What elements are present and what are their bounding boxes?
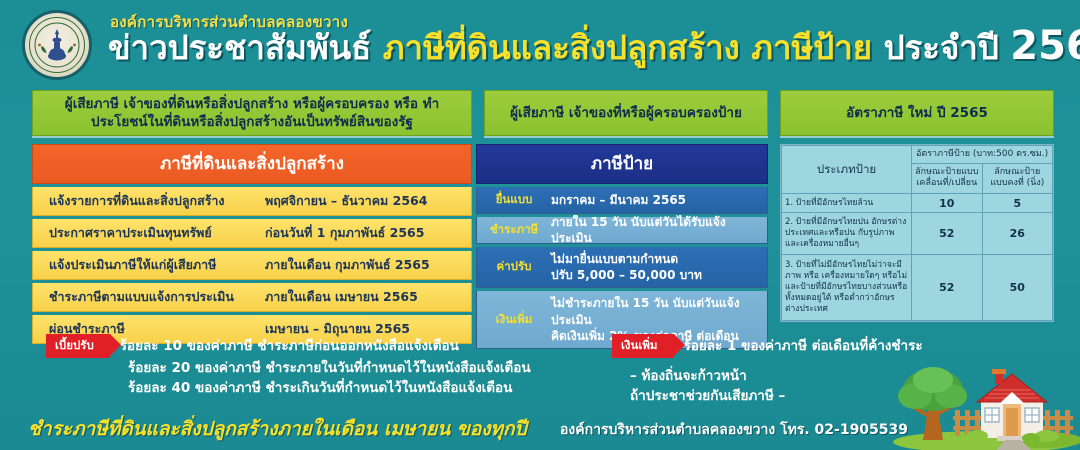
header: องค์การบริหารส่วนตำบลคลองขวาง ข่าวประชาส…	[0, 0, 1080, 88]
sign-tax-value: ภายใน 15 วัน นับแต่วันได้รับแจ้งประเมิน	[551, 214, 767, 246]
subhead-signtax-payer: ผู้เสียภาษี เจ้าของที่หรือผู้ครอบครองป้า…	[484, 90, 768, 136]
headline-part-3: ภาษีป้าย	[751, 28, 872, 67]
rate-moving: 52	[912, 213, 982, 255]
penalty-surcharge-block: เบี้ยปรับ ร้อยละ 10 ของค่าภาษี ชำระภาษีก…	[46, 334, 566, 399]
land-tax-period: พฤศจิกายน – ธันวาคม 2564	[265, 191, 471, 211]
land-tax-period: ภายในเดือน เมษายน 2565	[265, 287, 471, 307]
table-row: แจ้งรายการที่ดินและสิ่งปลูกสร้าง พฤศจิกา…	[32, 187, 472, 216]
land-tax-item: แจ้งประเมินภาษีให้แก่ผู้เสียภาษี	[33, 255, 265, 275]
rate-type: 1. ป้ายที่มีอักษรไทยล้วน	[782, 193, 912, 213]
rate-type: 2. ป้ายที่มีอักษรไทยปน อักษรต่างประเทศแล…	[782, 213, 912, 255]
table-row: ค่าปรับ ไม่มายื่นแบบตามกำหนดปรับ 5,000 –…	[476, 247, 768, 288]
status-badge: เงินเพิ่ม	[612, 334, 674, 358]
rate-col-fixed: ลักษณะป้ายแบบคงที่ (นิ่ง)	[982, 163, 1052, 193]
status-badge: เบี้ยปรับ	[46, 334, 110, 358]
sign-rate-table: ประเภทป้าย อัตราภาษีป้าย (บาท:500 ตร.ซม.…	[780, 144, 1054, 322]
footer-org-phone: องค์การบริหารส่วนตำบลคลองขวาง โทร. 02-19…	[560, 419, 908, 441]
table-row: ยื่นแบบ มกราคม – มีนาคม 2565	[476, 187, 768, 214]
sign-tax-label: ชำระภาษี	[477, 222, 551, 238]
footer-callout: ชำระภาษีที่ดินและสิ่งปลูกสร้างภายในเดือน…	[28, 414, 527, 444]
headline-year: 2565	[1010, 23, 1080, 69]
land-tax-title: ภาษีที่ดินและสิ่งปลูกสร้าง	[32, 144, 472, 184]
rate-col-moving: ลักษณะป้ายแบบเคลื่อนที่/เปลี่ยน	[912, 163, 982, 193]
rate-col-group: อัตราภาษีป้าย (บาท:500 ตร.ซม.)	[912, 146, 1053, 164]
penalty-line: ร้อยละ 40 ของค่าภาษี ชำระเกินวันที่กำหนด…	[128, 378, 566, 398]
rate-col-type: ประเภทป้าย	[782, 146, 912, 194]
land-tax-item: ชำระภาษีตามแบบแจ้งการประเมิน	[33, 287, 265, 307]
penalty-line: ร้อยละ 20 ของค่าภาษี ชำระภายในวันที่กำหน…	[128, 358, 566, 378]
sign-tax-label: ยื่นแบบ	[477, 192, 551, 208]
table-row: 3. ป้ายที่ไม่มีอักษรไทยไม่ว่าจะมีภาพ หรื…	[782, 255, 1053, 321]
government-seal-icon	[22, 10, 92, 80]
rate-fixed: 26	[982, 213, 1052, 255]
sign-tax-value: ไม่มายื่นแบบตามกำหนดปรับ 5,000 – 50,000 …	[551, 251, 767, 283]
sign-tax-value: มกราคม – มีนาคม 2565	[551, 192, 767, 208]
infographic-canvas: องค์การบริหารส่วนตำบลคลองขวาง ข่าวประชาส…	[0, 0, 1080, 450]
subhead-landtax-payer: ผู้เสียภาษี เจ้าของที่ดินหรือสิ่งปลูกสร้…	[32, 90, 472, 136]
sign-tax-title: ภาษีป้าย	[476, 144, 768, 184]
rate-type: 3. ป้ายที่ไม่มีอักษรไทยไม่ว่าจะมีภาพ หรื…	[782, 255, 912, 321]
headline-part-2: ภาษีที่ดินและสิ่งปลูกสร้าง	[383, 28, 740, 67]
sign-tax-label: เงินเพิ่ม	[477, 312, 551, 328]
table-row: ชำระภาษี ภายใน 15 วัน นับแต่วันได้รับแจ้…	[476, 217, 768, 244]
headline-part-4: ประจำปี	[884, 28, 999, 67]
land-tax-item: แจ้งรายการที่ดินและสิ่งปลูกสร้าง	[33, 191, 265, 211]
land-tax-period: ก่อนวันที่ 1 กุมภาพันธ์ 2565	[265, 223, 471, 243]
rate-fixed: 50	[982, 255, 1052, 321]
rate-moving: 52	[912, 255, 982, 321]
table-row: 1. ป้ายที่มีอักษรไทยล้วน 10 5	[782, 193, 1053, 213]
subhead-new-rate: อัตราภาษี ใหม่ ปี 2565	[780, 90, 1054, 136]
table-row: 2. ป้ายที่มีอักษรไทยปน อักษรต่างประเทศแล…	[782, 213, 1053, 255]
land-tax-item: ประกาศราคาประเมินทุนทรัพย์	[33, 223, 265, 243]
sign-tax-panel: ภาษีป้าย ยื่นแบบ มกราคม – มีนาคม 2565 ชำ…	[476, 144, 768, 349]
headline-part-1: ข่าวประชาสัมพันธ์	[108, 28, 371, 67]
table-row: ประกาศราคาประเมินทุนทรัพย์ ก่อนวันที่ 1 …	[32, 219, 472, 248]
page-title: ข่าวประชาสัมพันธ์ ภาษีที่ดินและสิ่งปลูกส…	[108, 26, 1080, 66]
house-with-tree-icon	[885, 352, 1080, 450]
land-tax-panel: ภาษีที่ดินและสิ่งปลูกสร้าง แจ้งรายการที่…	[32, 144, 472, 344]
sign-tax-label: ค่าปรับ	[477, 259, 551, 275]
table-row: ชำระภาษีตามแบบแจ้งการประเมิน ภายในเดือน …	[32, 283, 472, 312]
table-row: แจ้งประเมินภาษีให้แก่ผู้เสียภาษี ภายในเด…	[32, 251, 472, 280]
rate-fixed: 5	[982, 193, 1052, 213]
land-tax-period: ภายในเดือน กุมภาพันธ์ 2565	[265, 255, 471, 275]
penalty-line: ร้อยละ 10 ของค่าภาษี ชำระภาษีก่อนออกหนัง…	[120, 336, 459, 356]
rate-moving: 10	[912, 193, 982, 213]
